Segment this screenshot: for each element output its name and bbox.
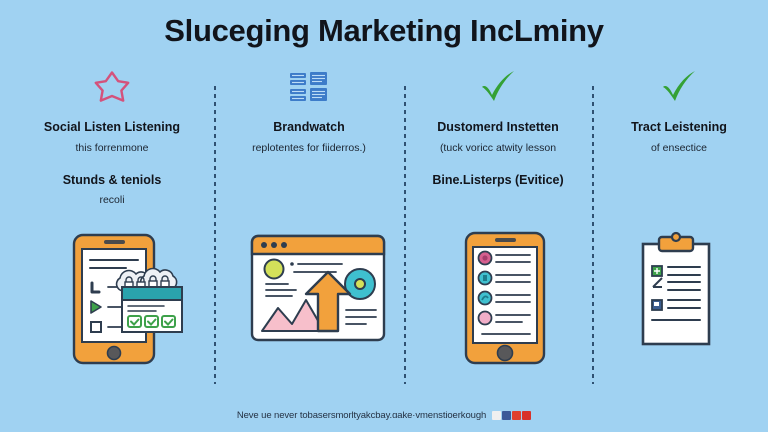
column-heading-secondary: Bine.Listerps (Evitice) <box>432 173 563 188</box>
column-subtext-secondary: recoli <box>99 194 124 206</box>
star-icon <box>93 66 131 108</box>
badge-red[interactable] <box>512 411 521 420</box>
column-subtext: this forrenmone <box>76 142 149 155</box>
browser-analytics-illustration <box>248 232 388 355</box>
column-customer-insight: Dustomerd Instetten (tuck voricc atwity … <box>408 66 588 188</box>
badge-red-2[interactable] <box>522 411 531 420</box>
footer-badges <box>492 411 531 420</box>
column-heading: Dustomerd Instetten <box>437 120 559 135</box>
column-divider <box>404 86 406 384</box>
column-subtext: (tuck voricc atwity lesson <box>440 142 556 155</box>
column-heading: Brandwatch <box>273 120 345 135</box>
column-brandwatch: Brandwatch replotentes for fiiderros.) <box>218 66 400 155</box>
column-subtext: replotentes for fiiderros.) <box>252 142 366 155</box>
column-track-listening: Tract Leistening of ensectice <box>596 66 762 155</box>
column-heading-secondary: Stunds & teniols <box>63 173 162 188</box>
footer-text: Neve ue never tobasersmorltyakcbay.ɑake·… <box>237 410 486 421</box>
check-icon <box>478 66 518 108</box>
column-divider <box>214 86 216 384</box>
column-social-listening: Social Listen Listening this forrenmone … <box>14 66 210 206</box>
column-subtext: of ensectice <box>651 142 707 155</box>
clipboard-checklist-illustration <box>630 230 726 371</box>
badge-white[interactable] <box>492 411 501 420</box>
grid-blocks-icon <box>289 66 329 108</box>
page-title: Sluceging Marketing IncLminy <box>0 14 768 48</box>
infographic-canvas: Sluceging Marketing IncLminy Social List… <box>0 0 768 432</box>
column-heading: Social Listen Listening <box>44 120 180 135</box>
smartphone-checklist-illustration <box>68 232 190 372</box>
smartphone-contacts-illustration <box>458 230 554 371</box>
footer: Neve ue never tobasersmorltyakcbay.ɑake·… <box>0 410 768 421</box>
badge-blue[interactable] <box>502 411 511 420</box>
check-icon <box>659 66 699 108</box>
column-divider <box>592 86 594 384</box>
column-heading: Tract Leistening <box>631 120 727 135</box>
